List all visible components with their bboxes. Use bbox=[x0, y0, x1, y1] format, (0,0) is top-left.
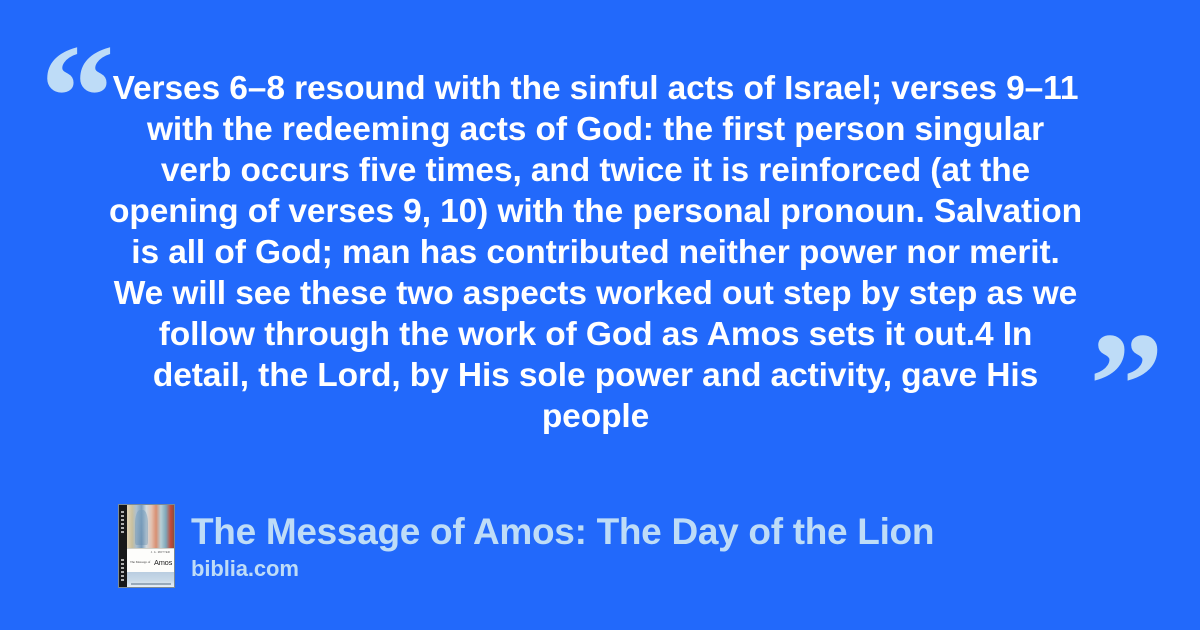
quote-card: “ Verses 6–8 resound with the sinful act… bbox=[0, 0, 1200, 630]
open-quote-icon: “ bbox=[40, 22, 115, 172]
footer-text-group: The Message of Amos: The Day of the Lion… bbox=[191, 510, 934, 582]
book-cover-artwork bbox=[127, 505, 174, 548]
footer: J. A. MOTYER The Message of Amos The Mes… bbox=[118, 504, 934, 588]
book-cover-lower-panel bbox=[127, 572, 174, 587]
site-name: biblia.com bbox=[191, 556, 934, 582]
book-cover-author: J. A. MOTYER bbox=[151, 551, 170, 554]
book-cover-title-band: J. A. MOTYER The Message of Amos bbox=[127, 548, 174, 574]
close-quote-icon: ” bbox=[1089, 310, 1164, 460]
book-cover-thumbnail: J. A. MOTYER The Message of Amos bbox=[118, 504, 175, 588]
book-cover-title-prefix: The Message of bbox=[130, 560, 150, 564]
quote-text: Verses 6–8 resound with the sinful acts … bbox=[108, 68, 1083, 437]
quote-block: Verses 6–8 resound with the sinful acts … bbox=[108, 68, 1083, 437]
book-cover-title-main: Amos bbox=[154, 558, 172, 567]
book-spine bbox=[119, 505, 127, 587]
book-title: The Message of Amos: The Day of the Lion bbox=[191, 510, 934, 554]
book-cover-series-bar bbox=[131, 583, 171, 585]
